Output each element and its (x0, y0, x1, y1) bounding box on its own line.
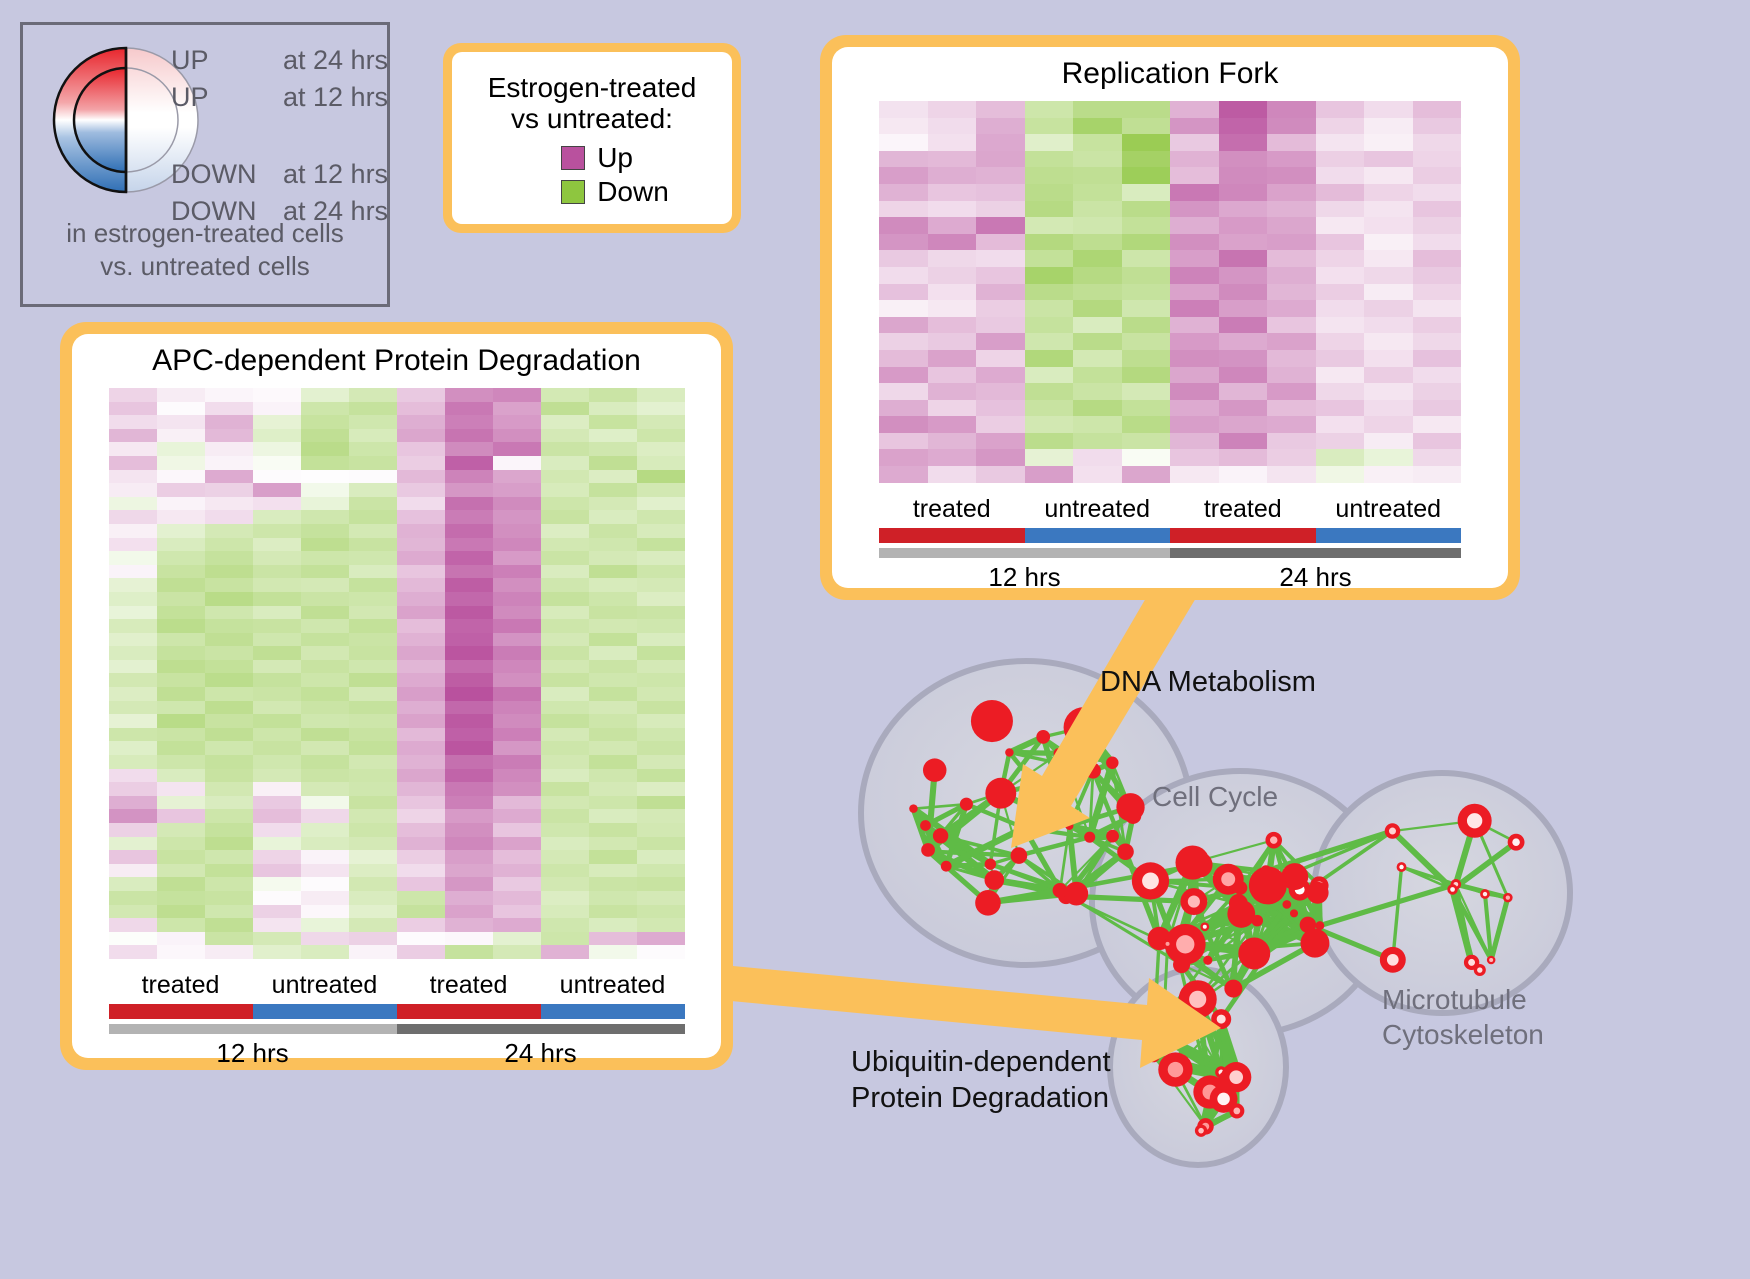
heatmap-cell (157, 619, 205, 633)
heatmap-cell (1267, 184, 1316, 201)
time-label-24hrs: 24 hrs (1170, 562, 1461, 593)
heatmap-cell (493, 646, 541, 660)
cluster-label-dna-metabolism: DNA Metabolism (1100, 666, 1316, 699)
heatmap-cell (589, 606, 637, 620)
heatmap-cell (205, 497, 253, 511)
heatmap-cell (109, 769, 157, 783)
node-inner-core (1477, 967, 1482, 972)
heatmap-cell (1122, 151, 1171, 168)
heatmap-cell (205, 850, 253, 864)
apc-time-bar-24hrs (397, 1024, 685, 1034)
heatmap-cell (349, 755, 397, 769)
network-node[interactable] (1464, 955, 1479, 970)
heatmap-cell (1267, 449, 1316, 466)
heatmap-cell (397, 619, 445, 633)
network-node[interactable] (941, 861, 952, 872)
heatmap-cell (1073, 134, 1122, 151)
heatmap-cell (493, 429, 541, 443)
heatmap-cell (879, 217, 928, 234)
heatmap-cell (589, 510, 637, 524)
network-node[interactable] (1213, 864, 1244, 895)
network-node[interactable] (1300, 929, 1329, 958)
network-node[interactable] (925, 847, 933, 855)
heatmap-cell (928, 333, 977, 350)
heatmap-cell (493, 905, 541, 919)
heatmap-cell (445, 728, 493, 742)
heatmap-cell (253, 945, 301, 959)
replication-fork-time-labels: 12 hrs 24 hrs (879, 562, 1461, 593)
node-inner-core (1489, 958, 1493, 962)
network-node[interactable] (1221, 1062, 1251, 1092)
legend-key-up: Up (561, 142, 669, 174)
heatmap-cell (301, 877, 349, 891)
heatmap-cell (976, 134, 1025, 151)
network-node[interactable] (975, 890, 1001, 916)
heatmap-cell (541, 837, 589, 851)
heatmap-cell (205, 782, 253, 796)
network-node[interactable] (1036, 730, 1050, 744)
network-node[interactable] (1011, 847, 1028, 864)
heatmap-cell (1122, 234, 1171, 251)
heatmap-cell (397, 823, 445, 837)
heatmap-cell (1170, 317, 1219, 334)
network-node[interactable] (1224, 980, 1242, 998)
heatmap-cell (1073, 383, 1122, 400)
heatmap-cell (589, 714, 637, 728)
heatmap-cell (1122, 367, 1171, 384)
heatmap-cell (928, 317, 977, 334)
network-node[interactable] (923, 758, 947, 782)
network-node[interactable] (1238, 938, 1270, 970)
heatmap-cell (445, 592, 493, 606)
network-node[interactable] (1179, 980, 1217, 1018)
heatmap-cell (1267, 284, 1316, 301)
apc-time-labels: 12 hrs 24 hrs (109, 1038, 685, 1069)
heatmap-cell (109, 606, 157, 620)
apc-group-labels: treated untreated treated untreated (109, 971, 685, 1000)
heatmap-cell (1413, 118, 1462, 135)
apc-group-bars (109, 1004, 685, 1019)
pathway-network-graph (790, 615, 1750, 1279)
heatmap-cell (1025, 134, 1074, 151)
heatmap-cell (445, 619, 493, 633)
heatmap-cell (157, 497, 205, 511)
heatmap-cell (1073, 416, 1122, 433)
heatmap-cell (1219, 383, 1268, 400)
group-bar-treated-24 (1170, 528, 1316, 543)
colorwheel-caption: in estrogen-treated cells vs. untreated … (23, 217, 387, 284)
network-node[interactable] (1200, 922, 1209, 931)
heatmap-cell (1219, 134, 1268, 151)
heatmap-cell (205, 905, 253, 919)
network-node[interactable] (1380, 947, 1406, 973)
heatmap-cell (879, 201, 928, 218)
heatmap-cell (1219, 350, 1268, 367)
network-node[interactable] (1116, 793, 1144, 821)
heatmap-cell (301, 687, 349, 701)
heatmap-cell (205, 891, 253, 905)
network-node[interactable] (1315, 921, 1324, 930)
heatmap-cell (397, 429, 445, 443)
heatmap-cell (1073, 234, 1122, 251)
heatmap-cell (205, 945, 253, 959)
node-outer-disc (1084, 832, 1095, 843)
heatmap-cell (1267, 234, 1316, 251)
apc-group-bar-treated-24 (397, 1004, 541, 1019)
heatmap-cell (589, 456, 637, 470)
heatmap-cell (541, 850, 589, 864)
heatmap-cell (445, 714, 493, 728)
network-node[interactable] (1180, 888, 1207, 915)
network-node[interactable] (1203, 956, 1212, 965)
network-node[interactable] (1195, 1125, 1207, 1137)
heatmap-cell (157, 565, 205, 579)
replication-fork-time-bars (879, 548, 1461, 558)
heatmap-cell (397, 442, 445, 456)
heatmap-cell (109, 932, 157, 946)
heatmap-cell (637, 918, 685, 932)
heatmap-cell (637, 755, 685, 769)
heatmap-cell (205, 402, 253, 416)
heatmap-cell (1219, 217, 1268, 234)
network-node[interactable] (1064, 707, 1105, 748)
heatmap-cell (541, 388, 589, 402)
network-node[interactable] (960, 798, 973, 811)
heatmap-cell (253, 565, 301, 579)
heatmap-cell (109, 755, 157, 769)
heatmap-cell (1170, 350, 1219, 367)
heatmap-cell (301, 402, 349, 416)
heatmap-cell (205, 606, 253, 620)
apc-time-bar-12hrs (109, 1024, 397, 1034)
heatmap-cell (637, 646, 685, 660)
heatmap-cell (301, 415, 349, 429)
heatmap-cell (1267, 250, 1316, 267)
heatmap-cell (1025, 383, 1074, 400)
heatmap-cell (879, 184, 928, 201)
network-node[interactable] (1508, 834, 1525, 851)
heatmap-cell (157, 429, 205, 443)
network-node[interactable] (1147, 1050, 1159, 1062)
network-node[interactable] (1211, 1009, 1231, 1029)
heatmap-cell (879, 333, 928, 350)
heatmap-cell (1364, 383, 1413, 400)
network-node[interactable] (1084, 832, 1095, 843)
heatmap-cell (349, 918, 397, 932)
heatmap-cell (397, 877, 445, 891)
network-node[interactable] (1447, 884, 1458, 895)
network-node[interactable] (1229, 1103, 1244, 1118)
heatmap-cell (1316, 350, 1365, 367)
heatmap-cell (493, 837, 541, 851)
heatmap-cell (445, 456, 493, 470)
heatmap-cell (541, 429, 589, 443)
heatmap-cell (637, 837, 685, 851)
heatmap-cell (445, 660, 493, 674)
network-node[interactable] (985, 870, 1005, 890)
heatmap-cell (1122, 250, 1171, 267)
heatmap-cell (349, 442, 397, 456)
heatmap-cell (157, 837, 205, 851)
network-node[interactable] (1290, 909, 1298, 917)
heatmap-cell (1267, 383, 1316, 400)
heatmap-cell (301, 388, 349, 402)
node-outer-disc (971, 700, 1013, 742)
heatmap-cell (349, 796, 397, 810)
group-bar-untreated-24 (1316, 528, 1462, 543)
heatmap-cell (301, 565, 349, 579)
node-outer-disc (1036, 730, 1050, 744)
network-node[interactable] (1249, 866, 1287, 904)
network-node[interactable] (1163, 939, 1172, 948)
heatmap-cell (205, 619, 253, 633)
heatmap-cell (1170, 201, 1219, 218)
wheel-time-down-12: at 12 hrs (283, 161, 388, 188)
heatmap-cell (445, 606, 493, 620)
colorwheel-legend-box: UP at 24 hrs UP at 12 hrs DOWN at 12 hrs… (20, 22, 390, 307)
network-node[interactable] (985, 778, 1016, 809)
heatmap-cell (976, 201, 1025, 218)
network-node[interactable] (1187, 852, 1212, 877)
heatmap-cell (1122, 201, 1171, 218)
heatmap-cell (1073, 284, 1122, 301)
heatmap-cell (589, 823, 637, 837)
heatmap-cell (976, 151, 1025, 168)
heatmap-cell (397, 510, 445, 524)
heatmap-cell (109, 660, 157, 674)
network-node[interactable] (985, 858, 996, 869)
heatmap-cell (301, 633, 349, 647)
network-node[interactable] (1147, 1025, 1161, 1039)
heatmap-cell (1316, 217, 1365, 234)
heatmap-cell (1413, 350, 1462, 367)
estrogen-legend-inner: Estrogen-treated vs untreated: Up Down (452, 52, 732, 224)
heatmap-cell (445, 809, 493, 823)
network-node[interactable] (1265, 832, 1282, 849)
heatmap-cell (541, 918, 589, 932)
heatmap-cell (589, 741, 637, 755)
heatmap-cell (1316, 400, 1365, 417)
heatmap-cell (637, 796, 685, 810)
apc-dependent-inner: APC-dependent Protein Degradation treate… (72, 334, 721, 1058)
heatmap-cell (1170, 433, 1219, 450)
network-node[interactable] (1229, 894, 1248, 913)
heatmap-cell (589, 402, 637, 416)
network-node[interactable] (1458, 804, 1492, 838)
node-inner-core (1151, 1053, 1157, 1059)
wheel-dir-down-12: DOWN (171, 161, 283, 188)
heatmap-cell (1122, 167, 1171, 184)
heatmap-cell (879, 350, 928, 367)
heatmap-cell (157, 415, 205, 429)
network-node[interactable] (1005, 748, 1013, 756)
group-label-untreated-24: untreated (1316, 495, 1462, 524)
heatmap-cell (541, 470, 589, 484)
heatmap-cell (349, 891, 397, 905)
figure-canvas: UP at 24 hrs UP at 12 hrs DOWN at 12 hrs… (0, 0, 1750, 1279)
heatmap-cell (928, 350, 977, 367)
heatmap-cell (109, 918, 157, 932)
heatmap-cell (541, 442, 589, 456)
heatmap-cell (1316, 383, 1365, 400)
heatmap-cell (1122, 350, 1171, 367)
heatmap-cell (1219, 449, 1268, 466)
network-node[interactable] (1085, 763, 1101, 779)
heatmap-cell (1364, 151, 1413, 168)
down-color-swatch (561, 180, 585, 204)
network-node[interactable] (1158, 1052, 1192, 1086)
heatmap-cell (1364, 416, 1413, 433)
heatmap-cell (157, 823, 205, 837)
heatmap-cell (1267, 416, 1316, 433)
heatmap-cell (301, 429, 349, 443)
heatmap-cell (205, 565, 253, 579)
heatmap-cell (637, 877, 685, 891)
replication-fork-inner: Replication Fork treated untreated treat… (832, 47, 1508, 588)
heatmap-cell (637, 850, 685, 864)
heatmap-cell (493, 456, 541, 470)
heatmap-cell (637, 606, 685, 620)
apc-group-bar-untreated-12 (253, 1004, 397, 1019)
network-node[interactable] (1480, 889, 1490, 899)
heatmap-cell (397, 796, 445, 810)
network-node[interactable] (1065, 882, 1089, 906)
heatmap-cell (493, 442, 541, 456)
heatmap-cell (589, 429, 637, 443)
heatmap-cell (1413, 134, 1462, 151)
network-node[interactable] (1106, 830, 1119, 843)
node-outer-disc (1117, 843, 1134, 860)
heatmap-cell (976, 433, 1025, 450)
heatmap-cell (301, 891, 349, 905)
network-node[interactable] (920, 820, 931, 831)
heatmap-cell (541, 497, 589, 511)
network-node[interactable] (1117, 843, 1134, 860)
heatmap-cell (493, 823, 541, 837)
heatmap-cell (205, 510, 253, 524)
group-bar-untreated-12 (1025, 528, 1171, 543)
heatmap-cell (493, 592, 541, 606)
heatmap-cell (589, 796, 637, 810)
heatmap-cell (637, 864, 685, 878)
heatmap-cell (445, 905, 493, 919)
heatmap-cell (1364, 367, 1413, 384)
heatmap-cell (301, 483, 349, 497)
heatmap-cell (637, 728, 685, 742)
heatmap-cell (493, 932, 541, 946)
heatmap-cell (157, 945, 205, 959)
heatmap-cell (253, 524, 301, 538)
network-node[interactable] (1132, 862, 1169, 899)
heatmap-cell (397, 578, 445, 592)
heatmap-cell (541, 687, 589, 701)
heatmap-cell (1025, 317, 1074, 334)
heatmap-cell (253, 932, 301, 946)
heatmap-cell (1122, 101, 1171, 118)
heatmap-cell (589, 442, 637, 456)
heatmap-cell (1316, 151, 1365, 168)
heatmap-cell (349, 877, 397, 891)
heatmap-cell (157, 510, 205, 524)
heatmap-cell (397, 728, 445, 742)
heatmap-cell (541, 905, 589, 919)
network-node[interactable] (1397, 862, 1407, 872)
network-node[interactable] (1053, 883, 1068, 898)
heatmap-cell (205, 701, 253, 715)
heatmap-cell (493, 741, 541, 755)
network-node[interactable] (1054, 748, 1065, 759)
heatmap-cell (1170, 267, 1219, 284)
heatmap-cell (1025, 167, 1074, 184)
heatmap-cell (301, 850, 349, 864)
heatmap-cell (493, 619, 541, 633)
heatmap-cell (397, 470, 445, 484)
heatmap-cell (349, 510, 397, 524)
heatmap-cell (1267, 101, 1316, 118)
cluster-microtubule[interactable] (1314, 773, 1570, 1013)
heatmap-cell (109, 524, 157, 538)
heatmap-cell (397, 646, 445, 660)
network-node[interactable] (1487, 956, 1496, 965)
node-outer-disc (920, 820, 931, 831)
heatmap-cell (1025, 267, 1074, 284)
heatmap-cell (1267, 433, 1316, 450)
heatmap-cell (879, 416, 928, 433)
heatmap-cell (253, 905, 301, 919)
heatmap-cell (879, 433, 928, 450)
heatmap-cell (1073, 267, 1122, 284)
heatmap-cell (1122, 134, 1171, 151)
heatmap-cell (1122, 284, 1171, 301)
apc-group-label-treated-12: treated (109, 971, 253, 1000)
heatmap-cell (253, 592, 301, 606)
heatmap-cell (1170, 184, 1219, 201)
network-node[interactable] (1282, 900, 1291, 909)
heatmap-cell (445, 415, 493, 429)
network-node[interactable] (1503, 893, 1513, 903)
network-node[interactable] (1106, 757, 1118, 769)
node-outer-disc (1065, 822, 1073, 830)
heatmap-cell (541, 483, 589, 497)
network-node[interactable] (1307, 882, 1329, 904)
heatmap-cell (205, 524, 253, 538)
network-node[interactable] (971, 700, 1013, 742)
network-node[interactable] (1065, 822, 1073, 830)
node-inner-core (1389, 828, 1396, 835)
network-node[interactable] (933, 828, 948, 843)
heatmap-cell (253, 442, 301, 456)
heatmap-cell (109, 891, 157, 905)
heatmap-cell (109, 388, 157, 402)
heatmap-cell (928, 383, 977, 400)
heatmap-cell (445, 442, 493, 456)
heatmap-cell (301, 932, 349, 946)
network-node[interactable] (1017, 821, 1031, 835)
heatmap-cell (349, 837, 397, 851)
heatmap-cell (637, 402, 685, 416)
network-node[interactable] (909, 804, 918, 813)
network-node[interactable] (1385, 823, 1401, 839)
heatmap-cell (157, 646, 205, 660)
heatmap-cell (1025, 449, 1074, 466)
heatmap-cell (397, 905, 445, 919)
heatmap-cell (1073, 350, 1122, 367)
heatmap-cell (879, 167, 928, 184)
heatmap-cell (1413, 367, 1462, 384)
heatmap-cell (976, 267, 1025, 284)
heatmap-cell (879, 267, 928, 284)
heatmap-cell (1413, 383, 1462, 400)
